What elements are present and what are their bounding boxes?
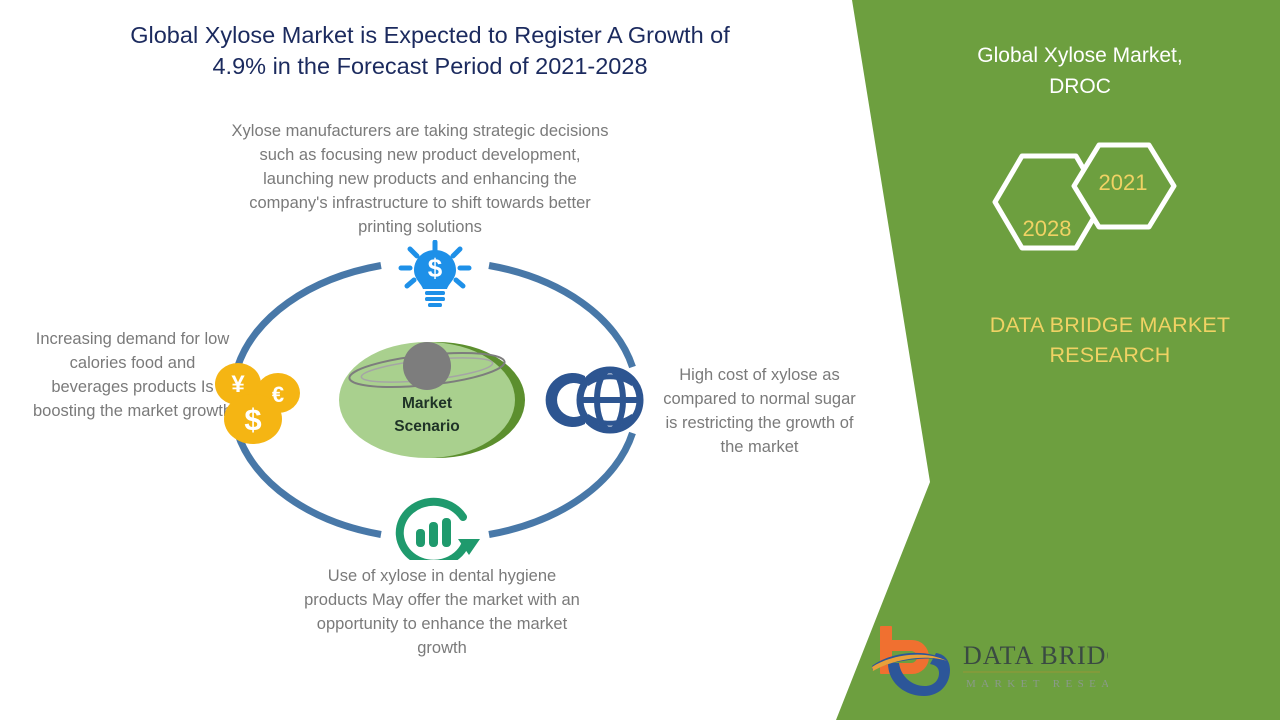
hexagon-group: 2021 2028 (975, 140, 1190, 285)
coins-currency-icon: ¥ € $ (215, 363, 300, 444)
data-bridge-logo: DATA BRIDGE MARKET RESEARCH (868, 622, 1108, 700)
panel-brand-line-1: DATA BRIDGE MARKET (960, 310, 1260, 340)
svg-text:¥: ¥ (231, 371, 245, 398)
panel-heading-line-2: DROC (930, 71, 1230, 102)
callout-right-text: High cost of xylose as compared to norma… (657, 363, 862, 459)
logo-b-mark-orange (880, 626, 929, 674)
globe-icon (546, 370, 640, 430)
logo-wordmark: DATA BRIDGE (963, 641, 1108, 670)
center-node (339, 342, 525, 458)
logo-tagline: MARKET RESEARCH (966, 678, 1108, 690)
panel-brand-name: DATA BRIDGE MARKET RESEARCH (960, 310, 1260, 370)
panel-heading: Global Xylose Market, DROC (930, 40, 1230, 102)
page-title-line-1: Global Xylose Market is Expected to Regi… (60, 20, 800, 51)
hexagon-outlines (975, 140, 1190, 285)
page-title: Global Xylose Market is Expected to Regi… (60, 20, 800, 82)
svg-text:$: $ (428, 253, 443, 283)
panel-heading-line-1: Global Xylose Market, (930, 40, 1230, 71)
page-title-line-2: 4.9% in the Forecast Period of 2021-2028 (60, 51, 800, 82)
callout-top-text: Xylose manufacturers are taking strategi… (225, 119, 615, 239)
bar-chart-refresh-icon (400, 502, 480, 560)
hexagon-2021-year: 2021 (1083, 170, 1163, 196)
svg-text:$: $ (244, 402, 261, 437)
callout-bottom-text: Use of xylose in dental hygiene products… (302, 564, 582, 660)
market-scenario-diagram: $ ¥ € $ (215, 240, 655, 560)
hexagon-2028-year: 2028 (1007, 216, 1087, 242)
lightbulb-dollar-icon: $ (401, 242, 469, 307)
logo-swoosh-blue (872, 653, 950, 696)
callout-left-text: Increasing demand for low calories food … (30, 327, 235, 423)
panel-brand-line-2: RESEARCH (960, 340, 1260, 370)
